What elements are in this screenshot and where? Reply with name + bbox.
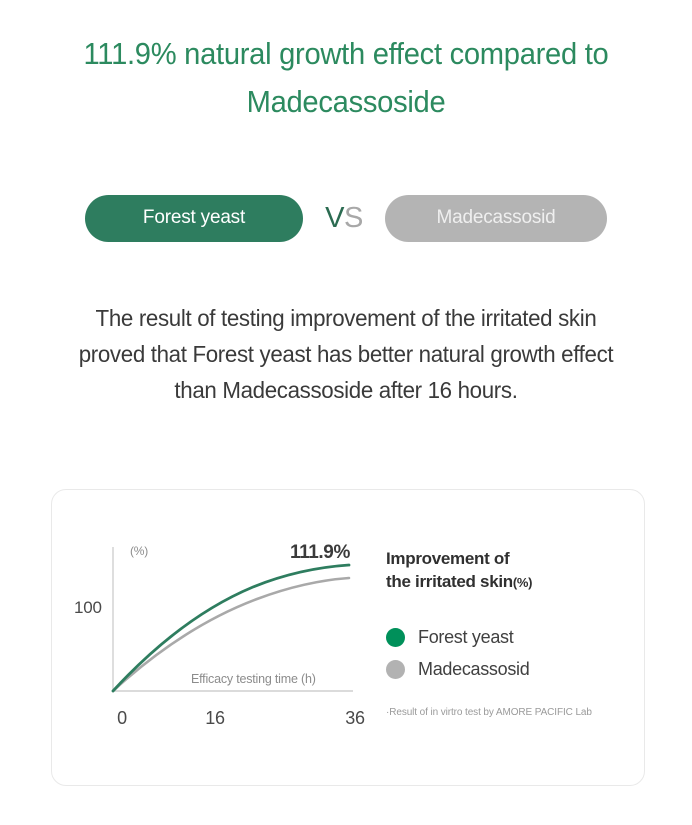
value-callout-111-9: 111.9% (290, 542, 350, 564)
x-axis-tick-16: 16 (202, 708, 228, 729)
x-axis-tick-0: 0 (112, 708, 132, 729)
line-chart-plot (113, 547, 357, 712)
legend-title: Improvement of the irritated skin(%) (386, 547, 634, 594)
legend-label-forest-yeast: Forest yeast (418, 627, 513, 648)
description-line-2: proved that Forest yeast has better natu… (10, 336, 681, 372)
description-line-1: The result of testing improvement of the… (10, 300, 681, 336)
chart-card: (%) 100 Efficacy testing time (h) 0 16 3… (51, 489, 645, 786)
x-axis-caption: Efficacy testing time (h) (191, 672, 316, 686)
legend-title-line-1: Improvement of (386, 547, 634, 570)
chart-legend: Improvement of the irritated skin(%) For… (386, 547, 634, 718)
versus-letter-s: S (344, 202, 363, 234)
legend-dot-gray-icon (386, 660, 405, 679)
comparison-row: Forest yeast VS Madecassosid (0, 193, 692, 243)
legend-title-line-2: the irritated skin(%) (386, 570, 634, 594)
x-axis-tick-36: 36 (342, 708, 368, 729)
legend-item-list: Forest yeast Madecassosid (386, 621, 634, 685)
page-title-line-2: Madecassoside (21, 78, 671, 126)
chart-footnote: ·Result of in virtro test by AMORE PACIF… (386, 707, 634, 718)
y-axis-unit-label: (%) (130, 544, 148, 558)
legend-title-unit: (%) (513, 575, 532, 590)
description-line-3: than Madecassoside after 16 hours. (10, 372, 681, 408)
legend-item-forest-yeast: Forest yeast (386, 621, 634, 653)
legend-title-second-text: the irritated skin (386, 572, 513, 591)
pill-forest-yeast[interactable]: Forest yeast (85, 195, 303, 242)
description-paragraph: The result of testing improvement of the… (10, 300, 681, 408)
legend-label-madecassosid: Madecassosid (418, 659, 529, 680)
y-axis-tick-100: 100 (74, 598, 102, 618)
page-title: 111.9% natural growth effect compared to… (21, 30, 671, 126)
versus-label: VS (303, 202, 385, 235)
legend-dot-green-icon (386, 628, 405, 647)
pill-madecassosid[interactable]: Madecassosid (385, 195, 607, 242)
legend-item-madecassosid: Madecassosid (386, 653, 634, 685)
versus-letter-v: V (325, 202, 344, 234)
page-title-line-1: 111.9% natural growth effect compared to (21, 30, 671, 78)
